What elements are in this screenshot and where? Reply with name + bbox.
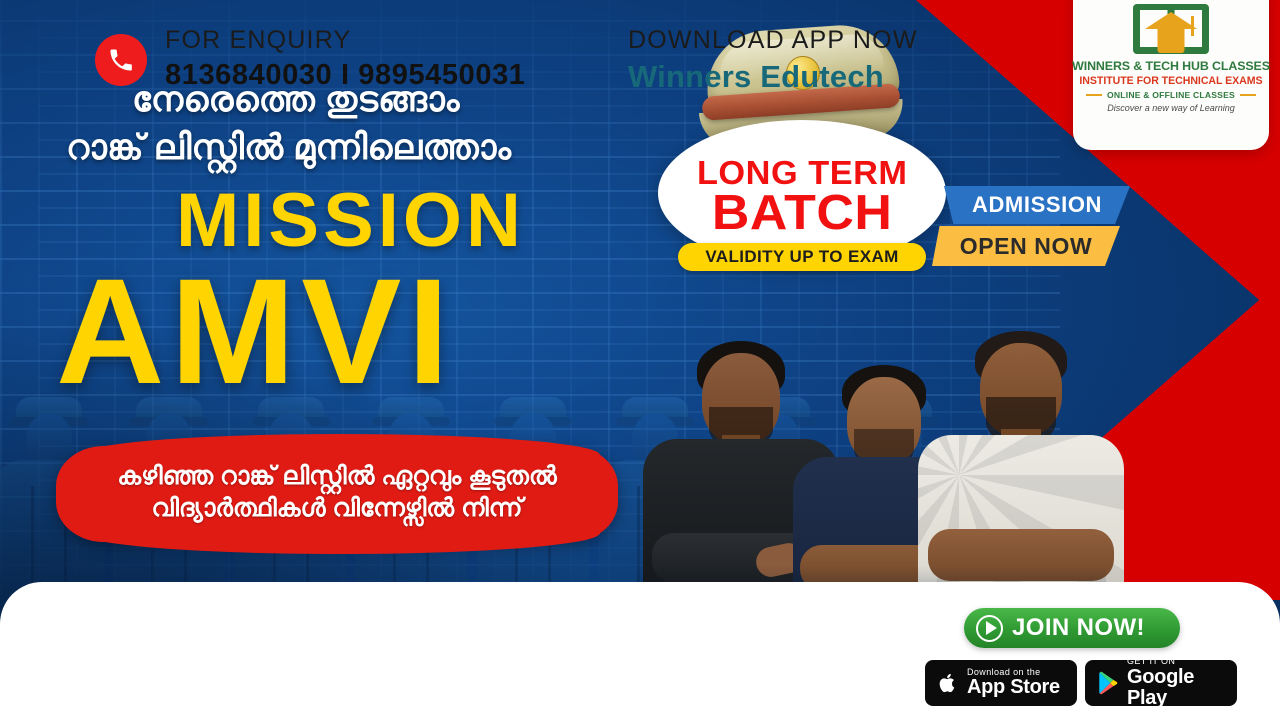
apple-icon xyxy=(937,670,959,696)
batch-validity-pill: VALIDITY UP TO EXAM xyxy=(678,243,926,271)
gplay-big-label: Google Play xyxy=(1127,667,1225,709)
download-block: DOWNLOAD APP NOW Winners Edutech xyxy=(628,26,918,95)
play-arrow-icon xyxy=(976,615,1003,642)
join-now-button[interactable]: JOIN NOW! xyxy=(964,608,1180,648)
batch-validity-label: VALIDITY UP TO EXAM xyxy=(705,247,898,267)
institute-logo-card: WINNERS & TECH HUB CLASSES INSTITUTE FOR… xyxy=(1073,0,1269,150)
caption-line2: വിദ്യാര്‍ത്ഥികള്‍ വിന്നേഴ്സില്‍ നിന്ന് xyxy=(152,492,523,524)
phone-icon xyxy=(95,34,147,86)
divider-left xyxy=(1086,94,1102,96)
download-label: DOWNLOAD APP NOW xyxy=(628,26,918,55)
caption-line1: കഴിഞ്ഞ റാങ്ക് ലിസ്റ്റില്‍ ഏറ്റവും കൂടുതല… xyxy=(117,460,556,492)
book-graduation-cap-icon xyxy=(1133,4,1209,54)
appstore-big-label: App Store xyxy=(967,677,1060,698)
logo-tagline: Discover a new way of Learning xyxy=(1107,103,1235,113)
enquiry-phone-numbers[interactable]: 8136840030 I 9895450031 xyxy=(165,59,526,92)
google-play-badge[interactable]: GET IT ON Google Play xyxy=(1085,660,1237,706)
exam-name-amvi: AMVI xyxy=(56,262,455,400)
admission-label: ADMISSION xyxy=(972,192,1102,218)
open-now-ribbon: OPEN NOW xyxy=(932,226,1120,266)
logo-name: WINNERS & TECH HUB CLASSES xyxy=(1072,59,1270,73)
admission-ribbon: ADMISSION xyxy=(944,186,1130,224)
logo-mode: ONLINE & OFFLINE CLASSES xyxy=(1107,90,1235,100)
enquiry-label: FOR ENQUIRY xyxy=(165,26,526,55)
promo-banner: നേരെത്തെ തുടങ്ങാം റാങ്ക് ലിസ്റ്റില്‍ മുന… xyxy=(0,0,1280,720)
logo-subtitle: INSTITUTE FOR TECHNICAL EXAMS xyxy=(1079,75,1262,87)
batch-line1: LONG TERM xyxy=(697,156,908,189)
logo-mode-row: ONLINE & OFFLINE CLASSES xyxy=(1086,90,1256,100)
enquiry-block: FOR ENQUIRY 8136840030 I 9895450031 xyxy=(165,26,526,92)
google-play-icon xyxy=(1097,671,1119,695)
app-store-badge[interactable]: Download on the App Store xyxy=(925,660,1077,706)
app-name: Winners Edutech xyxy=(628,59,918,95)
open-now-label: OPEN NOW xyxy=(960,233,1093,260)
join-now-label: JOIN NOW! xyxy=(1012,614,1145,642)
batch-line2: BATCH xyxy=(712,189,893,237)
divider-right xyxy=(1240,94,1256,96)
achievement-caption: കഴിഞ്ഞ റാങ്ക് ലിസ്റ്റില്‍ ഏറ്റവും കൂടുതല… xyxy=(56,446,618,542)
malayalam-headline-line2: റാങ്ക് ലിസ്റ്റില്‍ മുന്നിലെത്താം xyxy=(66,128,511,168)
